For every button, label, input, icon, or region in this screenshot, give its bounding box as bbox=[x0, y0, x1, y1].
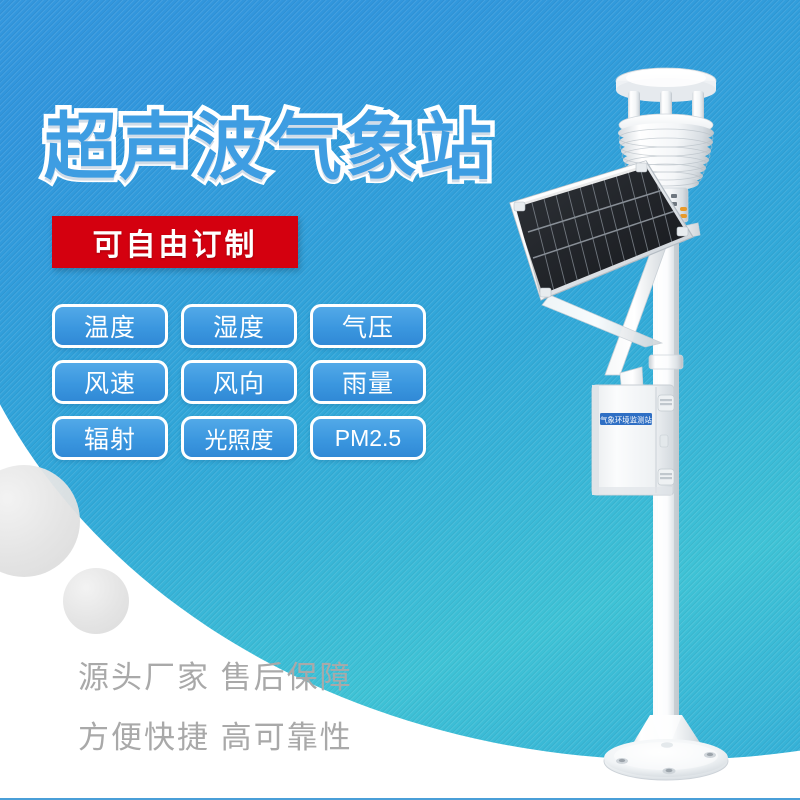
enclosure-label-text: 气象环境监测站 bbox=[600, 415, 652, 424]
feature-tag-rainfall[interactable]: 雨量 bbox=[310, 360, 426, 404]
feature-tag-wind-speed[interactable]: 风速 bbox=[52, 360, 168, 404]
poster-canvas: 超声波气象站 可自由订制 温度 湿度 气压 风速 风向 雨量 辐射 光照度 PM… bbox=[0, 0, 800, 800]
feature-tag-pressure[interactable]: 气压 bbox=[310, 304, 426, 348]
decorative-circle-small bbox=[63, 568, 129, 634]
feature-tag-radiation[interactable]: 辐射 bbox=[52, 416, 168, 460]
tagline-secondary: 方便快捷 高可靠性 bbox=[78, 712, 353, 757]
feature-tag-wind-direction[interactable]: 风向 bbox=[181, 360, 297, 404]
feature-tag-grid: 温度 湿度 气压 风速 风向 雨量 辐射 光照度 PM2.5 bbox=[52, 304, 426, 460]
controller-enclosure: 气象环境监测站 bbox=[592, 385, 674, 495]
base-flange bbox=[604, 715, 728, 780]
tagline-primary: 源头厂家 售后保障 bbox=[78, 652, 353, 697]
customizable-badge: 可自由订制 bbox=[52, 216, 298, 268]
feature-tag-pm25[interactable]: PM2.5 bbox=[310, 416, 426, 460]
feature-tag-illuminance[interactable]: 光照度 bbox=[181, 416, 297, 460]
feature-tag-temperature[interactable]: 温度 bbox=[52, 304, 168, 348]
feature-tag-humidity[interactable]: 湿度 bbox=[181, 304, 297, 348]
customizable-badge-label: 可自由订制 bbox=[93, 220, 258, 264]
product-photo: 气象环境监测站 bbox=[470, 55, 770, 785]
